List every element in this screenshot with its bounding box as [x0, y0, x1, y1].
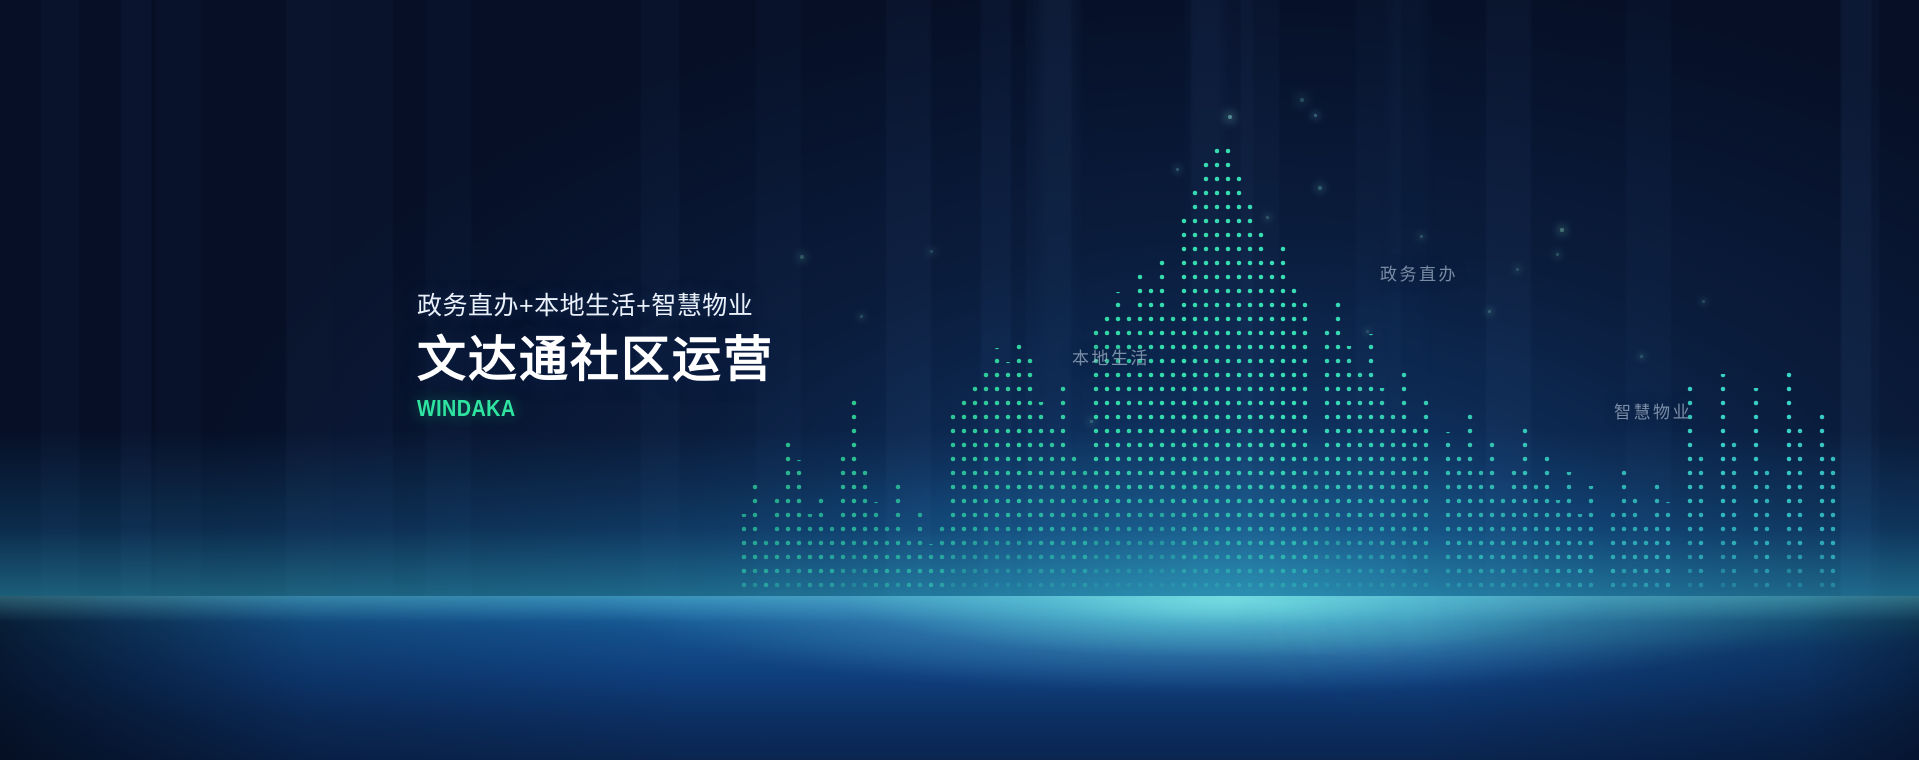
floor-ray-wedge — [0, 596, 1266, 605]
skyline-bar — [1115, 292, 1121, 610]
skyline-bar — [1280, 238, 1286, 610]
skyline-bar — [1467, 414, 1473, 610]
skyline-bar — [785, 442, 791, 610]
floor-ray-line — [0, 596, 1225, 606]
skyline-bar — [1247, 202, 1253, 610]
floor-ray-line — [0, 596, 1225, 606]
skyline-bar — [1500, 490, 1506, 610]
skyline-bar — [1830, 456, 1836, 610]
skyline-bar — [1291, 280, 1297, 610]
skyline-bar — [1368, 334, 1374, 610]
skyline-bar — [1060, 378, 1066, 610]
skyline-bar — [1511, 462, 1517, 610]
district-label-zhihuiwuye: 智慧物业 — [1614, 398, 1692, 423]
floor-ray-line — [0, 596, 1225, 607]
skyline-bar — [1258, 226, 1264, 610]
skyline-bar — [1797, 424, 1803, 610]
skyline-bar — [1170, 310, 1176, 610]
skyline-bar — [862, 468, 868, 610]
skyline-bar — [1489, 442, 1495, 610]
skyline-bar — [1203, 158, 1209, 610]
skyline-bar — [1478, 468, 1484, 610]
skyline-bar — [1137, 270, 1143, 610]
skyline-bar — [1324, 324, 1330, 610]
skyline-bar — [1522, 424, 1528, 610]
skyline-bar — [1654, 478, 1660, 610]
skyline-bar — [1148, 284, 1154, 610]
skyline-bar — [1753, 388, 1759, 610]
skyline-bar — [1786, 366, 1792, 610]
skyline-bar — [1082, 464, 1088, 610]
banner-subtitle: 政务直办+本地生活+智慧物业 — [417, 294, 774, 319]
skyline-bar — [1731, 440, 1737, 610]
skyline-bar — [994, 348, 1000, 610]
floor-ray-wedge — [1225, 596, 1919, 658]
headline-text-block: 政务直办+本地生活+智慧物业 文达通社区运营 WINDAKA — [417, 294, 774, 420]
floor-ray-wedge — [1225, 596, 1919, 687]
floor-ray-wedge — [0, 596, 1243, 605]
skyline-bar — [950, 414, 956, 610]
skyline-bar — [1236, 170, 1242, 610]
skyline-bar — [840, 456, 846, 610]
skyline-bar — [818, 498, 824, 610]
skyline-bar — [1533, 476, 1539, 610]
skyline-bar — [1192, 186, 1198, 610]
skyline-bar — [796, 460, 802, 610]
skyline-bar — [961, 398, 967, 610]
skyline-bar — [752, 478, 758, 610]
skyline-bar — [1379, 388, 1385, 610]
skyline-bar — [917, 510, 923, 610]
skyline-bar — [1390, 406, 1396, 610]
skyline-bar — [1423, 394, 1429, 610]
floor-ray-line — [0, 596, 1225, 607]
skyline-bar — [895, 484, 901, 610]
floor-ray-wedge — [0, 596, 1227, 605]
skyline-bar — [1445, 432, 1451, 610]
skyline-bar — [1225, 148, 1231, 610]
floor-ray-wedge — [0, 596, 1316, 605]
brand-wordmark: WINDAKA — [417, 397, 724, 420]
floor-ray-wedge — [1225, 596, 1919, 742]
skyline-bar — [774, 492, 780, 610]
floor-vignette — [0, 596, 1919, 760]
skyline-bar — [972, 384, 978, 610]
skyline-bar — [1555, 500, 1561, 610]
skyline-bar — [1665, 502, 1671, 610]
skyline-bar — [1159, 258, 1165, 610]
skyline-bar — [1412, 422, 1418, 610]
skyline-bar — [1005, 362, 1011, 610]
district-label-bendishenghuo: 本地生活 — [1072, 344, 1150, 369]
banner-title: 文达通社区运营 — [417, 335, 774, 386]
skyline-bar — [1181, 218, 1187, 610]
skyline-bar — [1346, 346, 1352, 610]
district-label-zhengwuzhiban: 政务直办 — [1380, 260, 1458, 285]
skyline-bar — [1819, 412, 1825, 610]
skyline-bar — [1049, 426, 1055, 610]
floor-ray-line — [1225, 596, 1919, 606]
skyline-bar — [1588, 486, 1594, 610]
skyline-bar — [1456, 454, 1462, 610]
skyline-bar — [1764, 468, 1770, 610]
floor-ray-wedge — [0, 596, 1393, 605]
skyline-bar — [851, 400, 857, 610]
perspective-floor — [0, 596, 1919, 760]
skyline-bar — [1544, 448, 1550, 610]
skyline-bar — [1027, 354, 1033, 610]
floor-ray-wedge — [1225, 596, 1919, 712]
floor-ray-line — [0, 596, 1225, 606]
skyline-bar — [1621, 464, 1627, 610]
skyline-bar — [1720, 374, 1726, 610]
skyline-bar — [1610, 506, 1616, 610]
skyline-bar — [1016, 340, 1022, 610]
skyline-bar — [1698, 452, 1704, 610]
skyline-bar — [1302, 300, 1308, 610]
skyline-bar — [1269, 254, 1275, 610]
skyline-bar — [1357, 372, 1363, 610]
skyline-bar — [1335, 298, 1341, 610]
skyline-bar — [1038, 402, 1044, 610]
hero-banner: 政务直办+本地生活+智慧物业 文达通社区运营 WINDAKA 政务直办 本地生活… — [0, 0, 1919, 760]
floor-ray-wedge — [0, 596, 1233, 605]
floor-ray-line — [1225, 596, 1919, 607]
skyline-bar — [1566, 472, 1572, 610]
skyline-bar — [1214, 144, 1220, 610]
floor-ray-line — [1225, 596, 1919, 606]
skyline-bar — [983, 370, 989, 610]
skyline-bar — [1313, 452, 1319, 610]
floor-ray-wedge — [1225, 596, 1919, 671]
skyline-bar — [1071, 448, 1077, 610]
skyline-bar — [1632, 492, 1638, 610]
skyline-bar — [873, 502, 879, 610]
floor-ray-line — [1225, 596, 1919, 607]
floor-ray-line — [1225, 596, 1919, 606]
skyline-bar — [1401, 370, 1407, 610]
